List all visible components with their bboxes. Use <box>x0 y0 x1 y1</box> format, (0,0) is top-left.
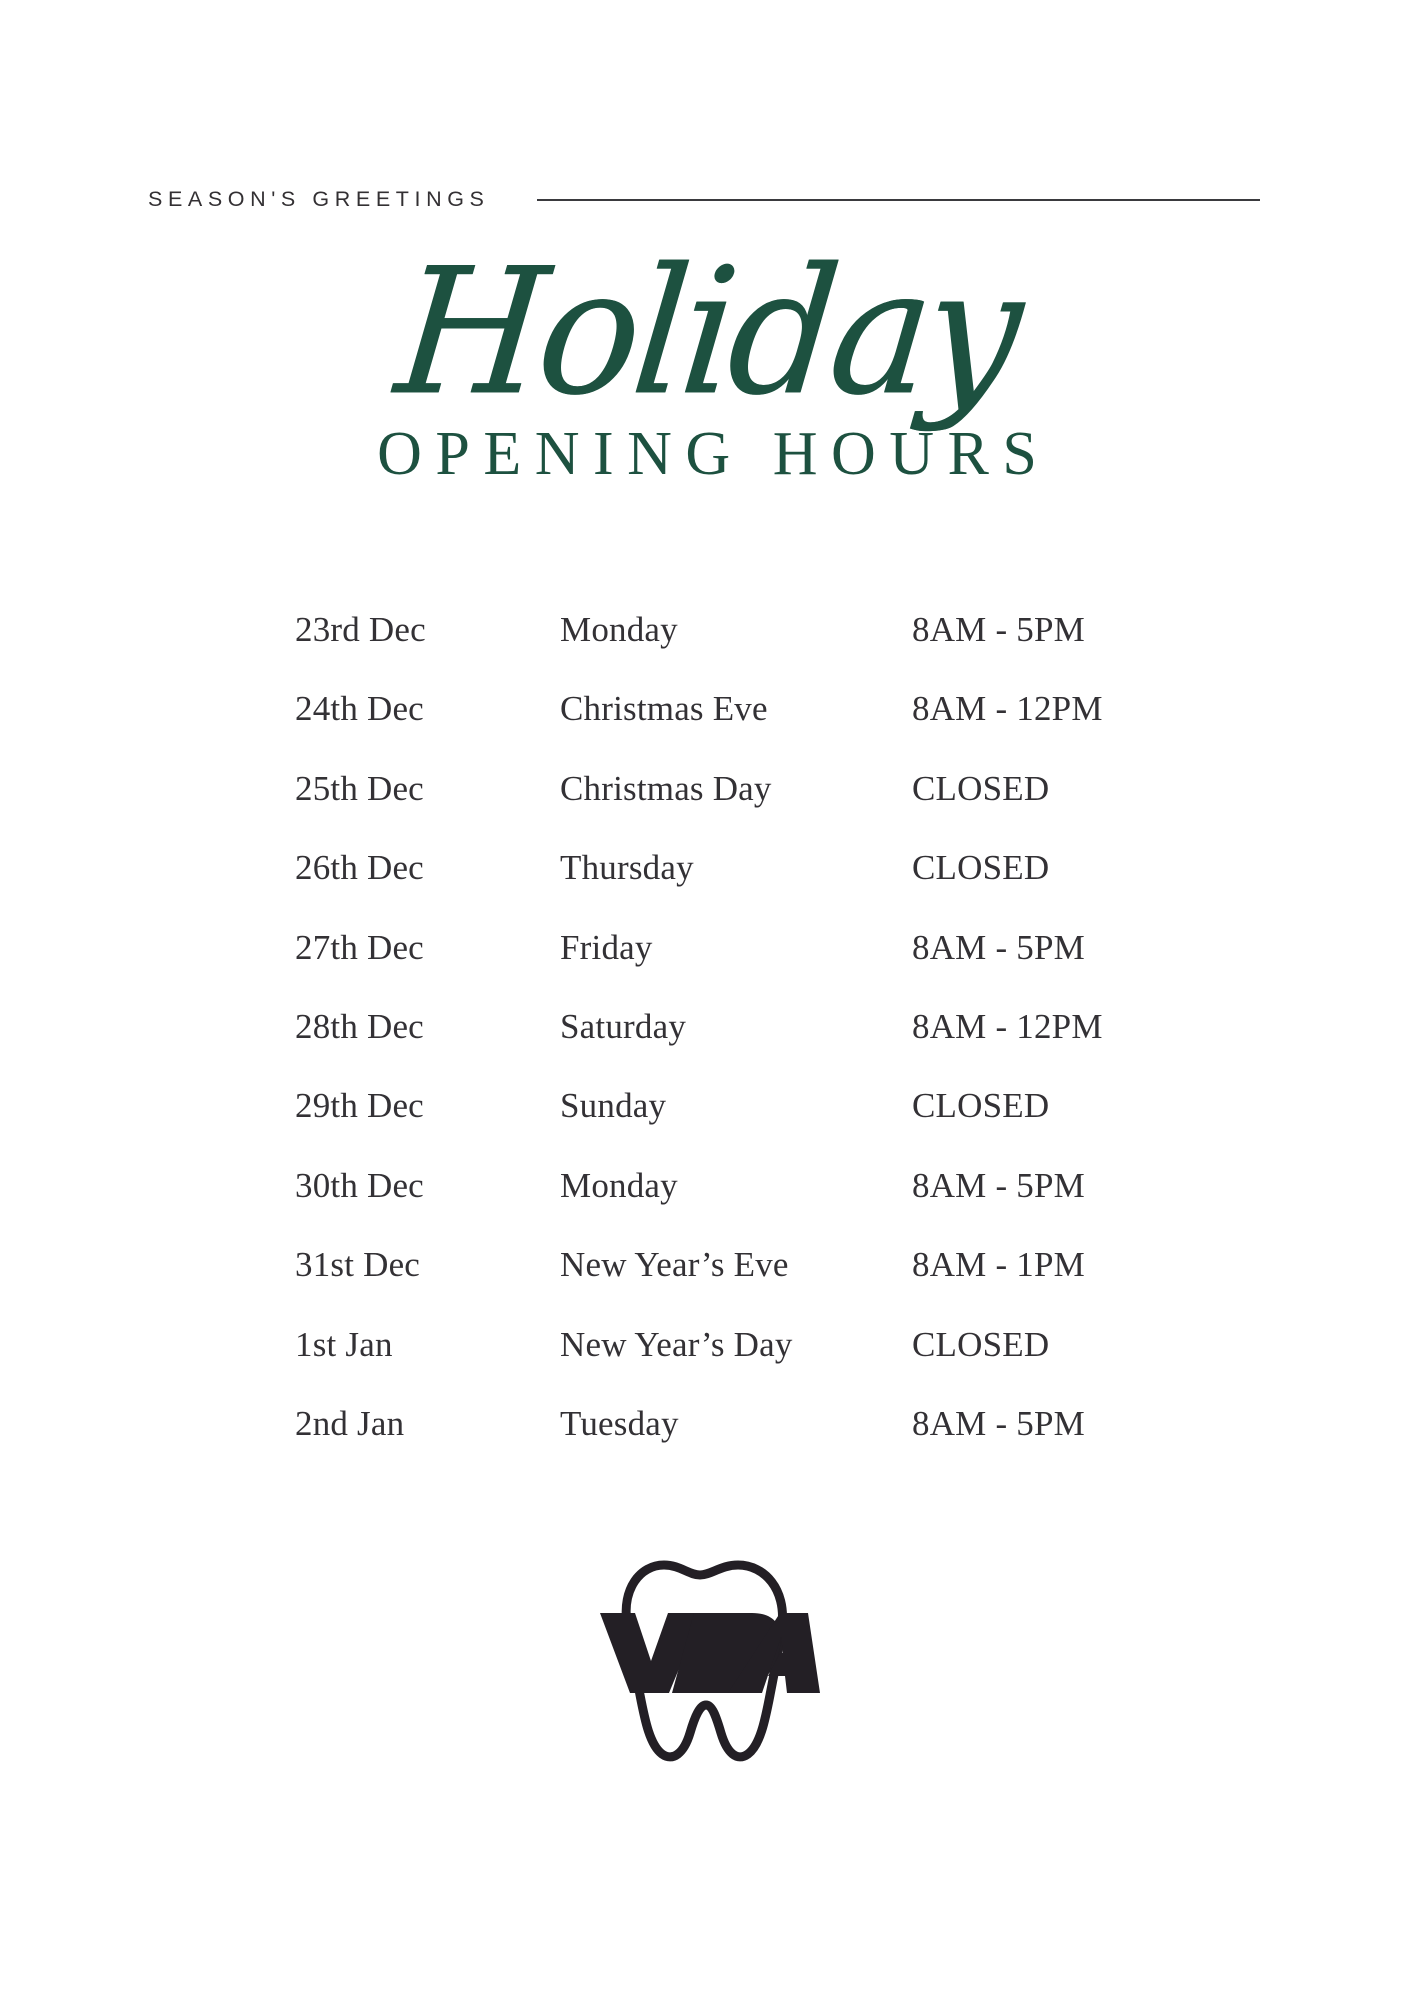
hours-cell-date: 27th Dec <box>295 930 560 965</box>
hours-cell-hours: 8AM - 5PM <box>912 930 1085 965</box>
hours-cell-hours: 8AM - 5PM <box>912 1168 1085 1203</box>
table-row: 30th DecMonday8AM - 5PM <box>295 1168 1135 1247</box>
table-row: 29th DecSundayCLOSED <box>295 1088 1135 1167</box>
divider-rule <box>537 199 1260 201</box>
hours-cell-day: Monday <box>560 612 912 647</box>
hours-cell-date: 30th Dec <box>295 1168 560 1203</box>
hours-cell-date: 23rd Dec <box>295 612 560 647</box>
hours-cell-hours: CLOSED <box>912 771 1049 806</box>
hours-cell-day: Sunday <box>560 1088 912 1123</box>
table-row: 28th DecSaturday8AM - 12PM <box>295 1009 1135 1088</box>
table-row: 27th DecFriday8AM - 5PM <box>295 930 1135 1009</box>
eyebrow-row: SEASON'S GREETINGS <box>148 183 1266 217</box>
hours-cell-date: 24th Dec <box>295 691 560 726</box>
hours-cell-hours: 8AM - 12PM <box>912 1009 1103 1044</box>
hours-cell-date: 29th Dec <box>295 1088 560 1123</box>
tooth-vda-logo-icon <box>594 1545 820 1775</box>
table-row: 24th DecChristmas Eve8AM - 12PM <box>295 691 1135 770</box>
vda-wordmark <box>600 1613 820 1693</box>
hours-cell-date: 1st Jan <box>295 1327 560 1362</box>
hours-cell-date: 25th Dec <box>295 771 560 806</box>
table-row: 26th DecThursdayCLOSED <box>295 850 1135 929</box>
hours-cell-hours: CLOSED <box>912 850 1049 885</box>
hours-cell-hours: 8AM - 12PM <box>912 691 1103 726</box>
hours-cell-date: 26th Dec <box>295 850 560 885</box>
hours-cell-date: 2nd Jan <box>295 1406 560 1441</box>
seasons-greetings-label: SEASON'S GREETINGS <box>148 189 489 211</box>
hours-cell-hours: CLOSED <box>912 1088 1049 1123</box>
table-row: 1st JanNew Year’s DayCLOSED <box>295 1327 1135 1406</box>
hours-cell-day: Christmas Eve <box>560 691 912 726</box>
hours-cell-day: Tuesday <box>560 1406 912 1441</box>
table-row: 25th DecChristmas DayCLOSED <box>295 771 1135 850</box>
hours-cell-hours: 8AM - 1PM <box>912 1247 1085 1282</box>
page-title-script: Holiday <box>0 245 1414 420</box>
hours-cell-hours: 8AM - 5PM <box>912 612 1085 647</box>
table-row: 31st DecNew Year’s Eve8AM - 1PM <box>295 1247 1135 1326</box>
hours-cell-day: New Year’s Eve <box>560 1247 912 1282</box>
table-row: 2nd JanTuesday8AM - 5PM <box>295 1406 1135 1485</box>
hours-cell-day: Christmas Day <box>560 771 912 806</box>
hours-cell-day: New Year’s Day <box>560 1327 912 1362</box>
hours-cell-day: Thursday <box>560 850 912 885</box>
hours-cell-date: 31st Dec <box>295 1247 560 1282</box>
hours-cell-date: 28th Dec <box>295 1009 560 1044</box>
table-row: 23rd DecMonday8AM - 5PM <box>295 612 1135 691</box>
holiday-hours-table: 23rd DecMonday8AM - 5PM24th DecChristmas… <box>295 612 1135 1485</box>
hours-cell-day: Monday <box>560 1168 912 1203</box>
hours-cell-hours: 8AM - 5PM <box>912 1406 1085 1441</box>
hours-cell-day: Saturday <box>560 1009 912 1044</box>
hours-cell-day: Friday <box>560 930 912 965</box>
page-title-script-text: Holiday <box>390 245 1023 420</box>
title-block: Holiday OPENING HOURS <box>0 248 1414 538</box>
hours-cell-hours: CLOSED <box>912 1327 1049 1362</box>
